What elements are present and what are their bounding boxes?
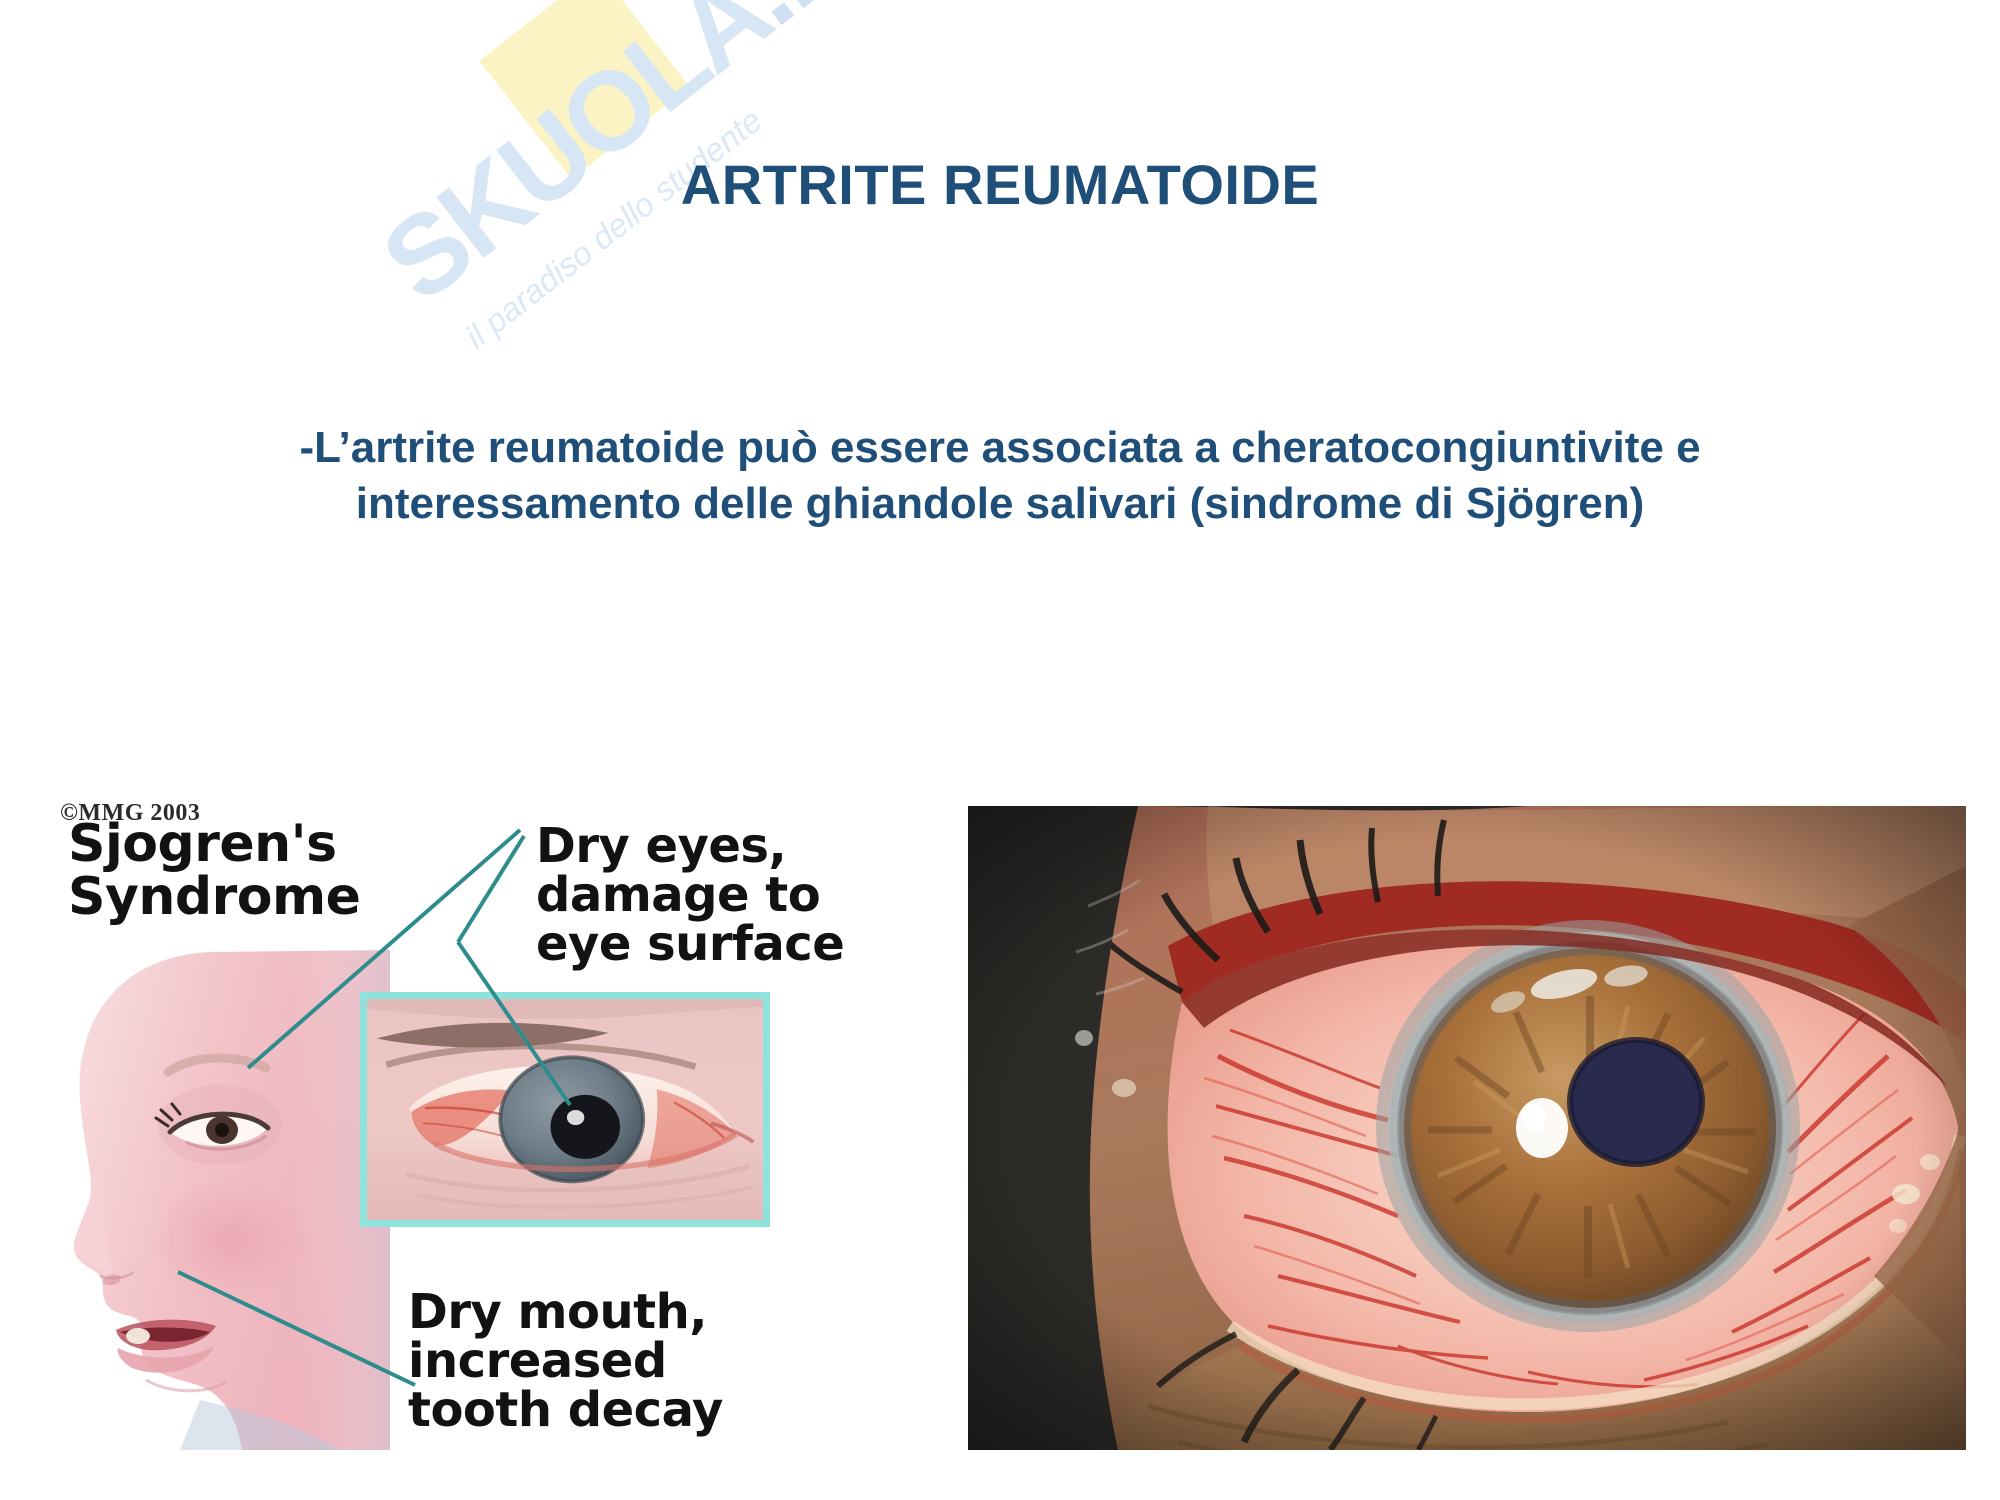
red-eye-photo: [968, 806, 1966, 1450]
watermark-logo-suffix: .net: [714, 0, 935, 49]
body-text-line-1: -L’artrite reumatoide può essere associa…: [180, 420, 1820, 476]
page-title: ARTRITE REUMATOIDE: [0, 152, 2000, 217]
watermark: SKUOLA.net il paradiso dello studente: [308, 0, 873, 459]
sjogren-diagram: Sjogren's Syndrome Dry eyes, damage to e…: [60, 800, 970, 1480]
face-profile-illustration: [60, 950, 390, 1450]
body-text: -L’artrite reumatoide può essere associa…: [180, 420, 1820, 533]
inset-eye-photo: [360, 992, 770, 1227]
body-text-line-2: interessamento delle ghiandole salivari …: [180, 476, 1820, 532]
watermark-tagline: il paradiso dello studente: [458, 101, 769, 356]
slide-canvas: SKUOLA.net il paradiso dello studente AR…: [0, 0, 2000, 1500]
label-sjogrens-syndrome: Sjogren's Syndrome: [68, 818, 360, 924]
label-dry-mouth: Dry mouth, increased tooth decay: [408, 1288, 723, 1435]
label-dry-eyes: Dry eyes, damage to eye surface: [536, 822, 844, 969]
